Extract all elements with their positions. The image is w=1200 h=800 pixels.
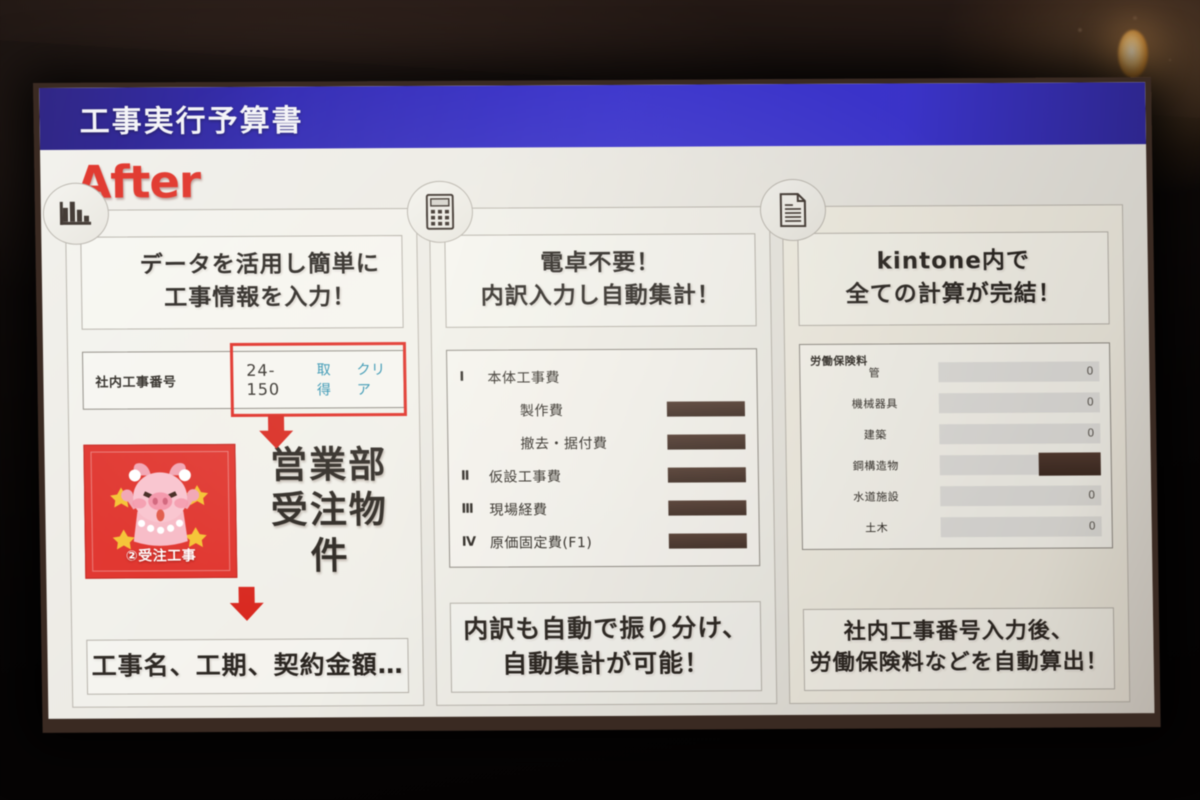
table-row: 土木 0 <box>812 511 1101 544</box>
caption-line: 労働保険料などを自動算出！ <box>808 648 1109 680</box>
table-row: 製作費 <box>460 393 745 427</box>
pig-and-department: ②受注工事 営業部 受注物件 <box>83 442 407 579</box>
clear-link[interactable]: クリア <box>356 359 389 399</box>
bar-chart-icon <box>42 183 109 245</box>
headline-line: 全ての計算が完結！ <box>809 277 1098 311</box>
row-value-bar <box>668 501 746 516</box>
row-label: 撤去・据付費 <box>488 433 607 454</box>
table-row: Ⅱ 仮設工事費 <box>461 459 746 493</box>
form-row-wrapper: 社内工事番号 24-150 取得 クリア <box>82 350 405 410</box>
row-input[interactable]: 0 <box>938 361 1099 382</box>
table-row: Ⅳ 原価固定費(F1) <box>462 525 747 559</box>
down-arrow-icon <box>259 415 294 449</box>
headline-line: データを活用し簡単に <box>127 248 392 282</box>
caption-line: 自動集計が可能！ <box>455 645 757 682</box>
row-input[interactable]: 0 <box>939 392 1100 413</box>
row-value-bar <box>669 534 747 549</box>
table-row: 建築 0 <box>811 418 1100 451</box>
column2-caption: 内訳も自動で振り分け、 自動集計が可能！ <box>450 601 762 693</box>
projection-screen: 工事実行予算書 After <box>33 77 1161 733</box>
table-row: 機械器具 0 <box>811 387 1100 420</box>
row-numeral: Ⅰ <box>459 370 487 385</box>
column2-headline: 電卓不要！ 内訳入力し自動集計！ <box>444 233 756 328</box>
row-input[interactable]: 0 <box>941 516 1102 537</box>
headline-line: 電卓不要！ <box>456 246 745 280</box>
row-label: 機械器具 <box>811 395 939 412</box>
document-icon <box>760 179 827 241</box>
table-row: 撤去・据付費 <box>460 426 745 460</box>
row-input[interactable]: 0 <box>940 485 1101 506</box>
field-actions: 取得 クリア <box>298 359 389 399</box>
row-value-bar <box>668 468 746 483</box>
caption-line: 内訳も自動で振り分け、 <box>455 610 757 647</box>
pig-mascot-card: ②受注工事 <box>83 444 237 579</box>
stage-spotlight <box>1118 30 1148 78</box>
table-row: 水道施設 0 <box>812 480 1101 513</box>
row-label: 水道施設 <box>812 488 940 505</box>
row-numeral: Ⅳ <box>462 535 490 550</box>
row-input[interactable]: 0 <box>939 423 1100 444</box>
construction-number-label: 社内工事番号 <box>83 371 231 391</box>
row-value: 0 <box>1086 365 1093 378</box>
row-label: 本体工事費 <box>487 367 560 387</box>
column3-caption: 社内工事番号入力後、 労働保険料などを自動算出！ <box>803 608 1115 691</box>
row-value: 0 <box>1089 520 1096 533</box>
column1-headline: データを活用し簡単に 工事情報を入力！ <box>80 235 403 330</box>
department-line: 営業部 <box>270 443 388 487</box>
column-auto-calculation: 電卓不要！ 内訳入力し自動集計！ Ⅰ 本体工事費 製作費 <box>429 206 777 706</box>
down-arrow-icon <box>229 586 264 620</box>
row-label: 鋼構造物 <box>812 457 940 474</box>
caption-line: 工事名、工期、契約金額… <box>91 647 404 684</box>
row-value: 0 <box>1087 396 1094 409</box>
row-label: 建築 <box>811 426 939 443</box>
headline-line: 工事情報を入力！ <box>128 281 393 315</box>
acquire-link[interactable]: 取得 <box>316 360 338 400</box>
headline-line: 内訳入力し自動集計！ <box>456 279 745 313</box>
table-row: 鋼構造物 <box>812 449 1101 482</box>
column-data-entry: データを活用し簡単に 工事情報を入力！ 社内工事番号 24-150 取得 クリア <box>65 208 424 708</box>
row-numeral: Ⅱ <box>461 469 489 484</box>
pig-card-caption: ②受注工事 <box>86 545 236 566</box>
breakdown-table: Ⅰ 本体工事費 製作費 撤去・据付費 <box>446 349 760 569</box>
row-label: 管 <box>810 364 938 381</box>
construction-number-field[interactable]: 24-150 取得 クリア <box>231 351 404 408</box>
screen-frame: 工事実行予算書 After <box>33 77 1161 733</box>
construction-number-row: 社内工事番号 24-150 取得 クリア <box>82 350 405 410</box>
row-label: 製作費 <box>488 400 564 420</box>
row-label: 現場経費 <box>489 499 547 519</box>
department-line: 受注物件 <box>271 489 389 578</box>
pig-mascot-icon <box>107 453 215 558</box>
department-text: 営業部 受注物件 <box>251 442 407 578</box>
presentation-slide: 工事実行予算書 After <box>39 82 1154 719</box>
column1-caption: 工事名、工期、契約金額… <box>86 638 409 695</box>
row-value: 0 <box>1087 427 1094 440</box>
slide-title: 工事実行予算書 <box>79 96 304 141</box>
row-label: 原価固定費(F1) <box>490 532 593 553</box>
slide-title-bar: 工事実行予算書 <box>39 82 1146 150</box>
row-label: 仮設工事費 <box>489 466 562 486</box>
row-value: 0 <box>1088 489 1095 502</box>
row-numeral: Ⅲ <box>461 502 489 517</box>
construction-number-value: 24-150 <box>246 361 299 399</box>
caption-line: 社内工事番号入力後、 <box>808 617 1109 649</box>
row-value-bar <box>667 435 745 450</box>
row-input[interactable] <box>940 454 1101 475</box>
table-row: Ⅰ 本体工事費 <box>459 360 744 394</box>
row-label: 土木 <box>813 519 941 536</box>
table-row: Ⅲ 現場経費 <box>461 492 746 526</box>
row-value-bar <box>667 402 745 417</box>
calculator-icon <box>407 181 474 243</box>
column3-headline: kintone内で 全ての計算が完結！ <box>797 231 1109 326</box>
column-kintone-calculation: kintone内で 全ての計算が完結！ 労働保険料 管 0 機械器具 <box>782 204 1130 704</box>
insurance-table: 労働保険料 管 0 機械器具 0 <box>799 343 1113 551</box>
columns-container: データを活用し簡単に 工事情報を入力！ 社内工事番号 24-150 取得 クリア <box>65 204 1130 707</box>
headline-line: kintone内で <box>809 244 1098 278</box>
row-value-bar <box>666 369 744 384</box>
